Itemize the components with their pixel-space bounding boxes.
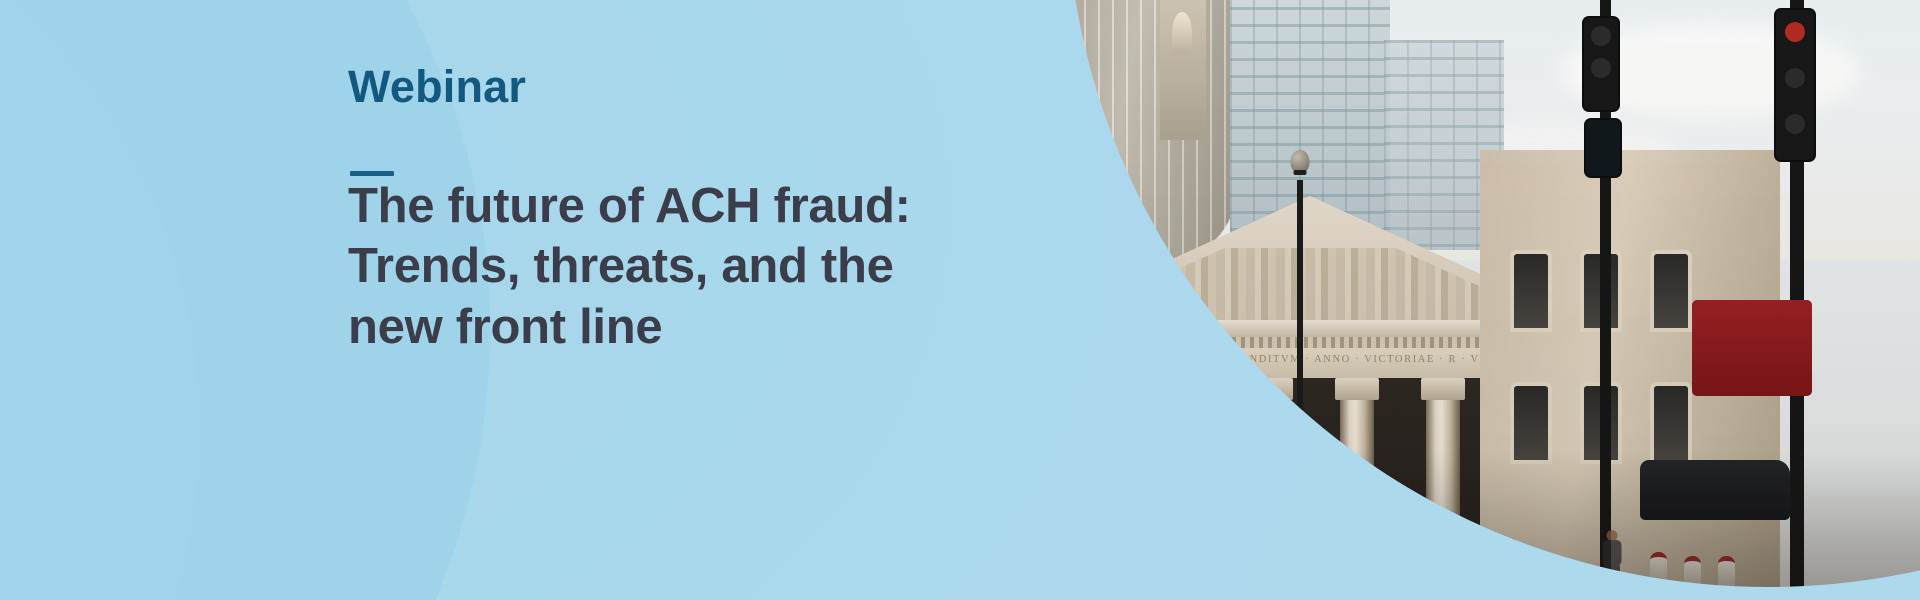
headline-line-1: The future of ACH fraud: [348, 176, 911, 236]
headline-line-2: Trends, threats, and the [348, 236, 911, 296]
page-title: The future of ACH fraud: Trends, threats… [348, 176, 911, 357]
eyebrow-label: Webinar [348, 62, 526, 112]
text-content: Webinar The future of ACH fraud: Trends,… [348, 0, 968, 600]
webinar-banner: ANNO · ELIZABETHAE · R · XIII · CONDITVM… [0, 0, 1920, 600]
headline-line-3: new front line [348, 297, 911, 357]
